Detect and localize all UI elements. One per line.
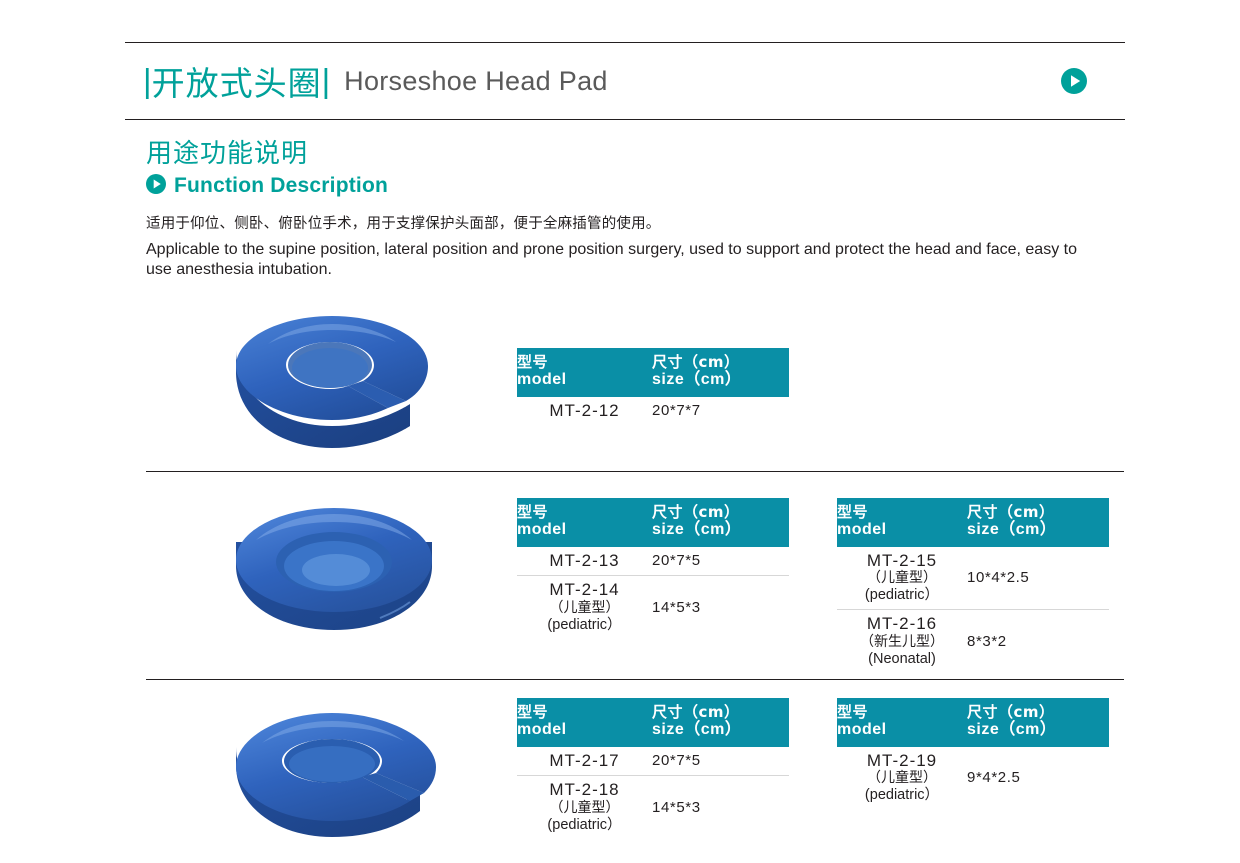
header-model-cn: 型号: [837, 504, 967, 521]
header-size-en: size（cm）: [967, 521, 1109, 539]
page-header: | 开放式头圈 | Horseshoe Head Pad: [125, 42, 1125, 120]
cell-size: 20*7*7: [652, 397, 789, 426]
table-header-row: 型号 model 尺寸（cm） size（cm）: [517, 498, 789, 547]
cell-model: MT-2-13: [517, 547, 652, 576]
header-size-en: size（cm）: [967, 721, 1109, 739]
table-header-row: 型号 model 尺寸（cm） size（cm）: [517, 348, 789, 397]
model-variant-en: (pediatric）: [517, 617, 652, 634]
model-variant-en: (pediatric）: [837, 787, 967, 804]
cell-size: 20*7*5: [652, 747, 789, 776]
header-size: 尺寸（cm） size（cm）: [652, 498, 789, 547]
description-en: Applicable to the supine position, later…: [146, 240, 1096, 280]
product-image-round-donut: [230, 498, 445, 658]
function-title-en: Function Description: [174, 174, 388, 198]
cell-size: 9*4*2.5: [967, 747, 1109, 810]
cell-model: MT-2-15 （儿童型） (pediatric）: [837, 547, 967, 610]
header-model-cn: 型号: [517, 704, 652, 721]
row-divider-2: [146, 679, 1124, 680]
spec-table-row3-left: 型号 model 尺寸（cm） size（cm） MT-2-17 20*7*5 …: [517, 698, 789, 839]
model-variant-cn: （儿童型）: [837, 770, 967, 787]
description-cn: 适用于仰位、侧卧、俯卧位手术，用于支撑保护头面部，便于全麻插管的使用。: [146, 212, 1106, 233]
table-row: MT-2-19 （儿童型） (pediatric） 9*4*2.5: [837, 747, 1109, 810]
cell-size: 8*3*2: [967, 610, 1109, 673]
header-size-en: size（cm）: [652, 721, 789, 739]
header-size-cn: 尺寸（cm）: [652, 704, 789, 721]
header-model-en: model: [837, 521, 967, 539]
page-root: | 开放式头圈 | Horseshoe Head Pad 用途功能说明 Func…: [0, 0, 1240, 863]
function-description-block: 用途功能说明 Function Description 适用于仰位、侧卧、俯卧位…: [146, 140, 1106, 280]
product-image-u-shape: [232, 705, 437, 860]
spec-table-row2-left: 型号 model 尺寸（cm） size（cm） MT-2-13 20*7*5 …: [517, 498, 789, 639]
function-title-cn: 用途功能说明: [146, 140, 1106, 169]
header-size-cn: 尺寸（cm）: [967, 704, 1109, 721]
header-model-cn: 型号: [517, 504, 652, 521]
table-row: MT-2-16 （新生儿型） (Neonatal) 8*3*2: [837, 610, 1109, 673]
header-model: 型号 model: [837, 498, 967, 547]
spec-table-row3-right: 型号 model 尺寸（cm） size（cm） MT-2-19 （儿童型） (…: [837, 698, 1109, 809]
header-model-en: model: [517, 521, 652, 539]
header-size-en: size（cm）: [652, 521, 789, 539]
table-row: MT-2-14 （儿童型） (pediatric） 14*5*3: [517, 576, 789, 639]
model-code: MT-2-12: [517, 401, 652, 421]
header-size-cn: 尺寸（cm）: [967, 504, 1109, 521]
header-size: 尺寸（cm） size（cm）: [967, 698, 1109, 747]
header-model-en: model: [517, 371, 652, 389]
header-model: 型号 model: [517, 698, 652, 747]
model-code: MT-2-18: [517, 780, 652, 800]
play-circle-icon: [146, 174, 166, 199]
header-size-cn: 尺寸（cm）: [652, 354, 789, 371]
cell-size: 14*5*3: [652, 576, 789, 639]
cell-model: MT-2-14 （儿童型） (pediatric）: [517, 576, 652, 639]
table-row: MT-2-17 20*7*5: [517, 747, 789, 776]
page-title-en: Horseshoe Head Pad: [344, 66, 608, 97]
cell-model: MT-2-12: [517, 397, 652, 426]
header-model: 型号 model: [837, 698, 967, 747]
cell-model: MT-2-18 （儿童型） (pediatric）: [517, 776, 652, 839]
table-row: MT-2-12 20*7*7: [517, 397, 789, 426]
model-code: MT-2-14: [517, 580, 652, 600]
model-code: MT-2-16: [837, 614, 967, 634]
model-code: MT-2-19: [837, 751, 967, 771]
table-row: MT-2-13 20*7*5: [517, 547, 789, 576]
model-variant-cn: （儿童型）: [517, 800, 652, 817]
cell-model: MT-2-19 （儿童型） (pediatric）: [837, 747, 967, 810]
header-model: 型号 model: [517, 498, 652, 547]
row-divider-1: [146, 471, 1124, 472]
page-title-cn: 开放式头圈: [152, 57, 322, 105]
table-header-row: 型号 model 尺寸（cm） size（cm）: [517, 698, 789, 747]
play-circle-icon: [1061, 68, 1087, 94]
model-code: MT-2-17: [517, 751, 652, 771]
model-variant-en: (Neonatal): [837, 651, 967, 668]
header-model: 型号 model: [517, 348, 652, 397]
table-header-row: 型号 model 尺寸（cm） size（cm）: [837, 498, 1109, 547]
header-size: 尺寸（cm） size（cm）: [652, 698, 789, 747]
model-variant-en: (pediatric）: [837, 587, 967, 604]
header-size: 尺寸（cm） size（cm）: [652, 348, 789, 397]
table-row: MT-2-15 （儿童型） (pediatric） 10*4*2.5: [837, 547, 1109, 610]
header-size-cn: 尺寸（cm）: [652, 504, 789, 521]
cell-model: MT-2-16 （新生儿型） (Neonatal): [837, 610, 967, 673]
title-divider-left: |: [143, 62, 152, 100]
cell-size: 14*5*3: [652, 776, 789, 839]
model-code: MT-2-15: [837, 551, 967, 571]
spec-table-row2-right: 型号 model 尺寸（cm） size（cm） MT-2-15 （儿童型） (…: [837, 498, 1109, 673]
model-code: MT-2-13: [517, 551, 652, 571]
model-variant-cn: （新生儿型）: [837, 634, 967, 651]
table-row: MT-2-18 （儿童型） (pediatric） 14*5*3: [517, 776, 789, 839]
header-model-en: model: [517, 721, 652, 739]
model-variant-cn: （儿童型）: [517, 600, 652, 617]
header-model-cn: 型号: [517, 354, 652, 371]
model-variant-en: (pediatric）: [517, 817, 652, 834]
product-image-open-c-shape: [228, 300, 443, 470]
header-size: 尺寸（cm） size（cm）: [967, 498, 1109, 547]
cell-size: 20*7*5: [652, 547, 789, 576]
table-header-row: 型号 model 尺寸（cm） size（cm）: [837, 698, 1109, 747]
header-model-cn: 型号: [837, 704, 967, 721]
model-variant-cn: （儿童型）: [837, 570, 967, 587]
cell-model: MT-2-17: [517, 747, 652, 776]
header-size-en: size（cm）: [652, 371, 789, 389]
title-divider-right: |: [322, 62, 331, 100]
header-model-en: model: [837, 721, 967, 739]
spec-table-row1-left: 型号 model 尺寸（cm） size（cm） MT-2-12 20*7*7: [517, 348, 789, 425]
cell-size: 10*4*2.5: [967, 547, 1109, 610]
